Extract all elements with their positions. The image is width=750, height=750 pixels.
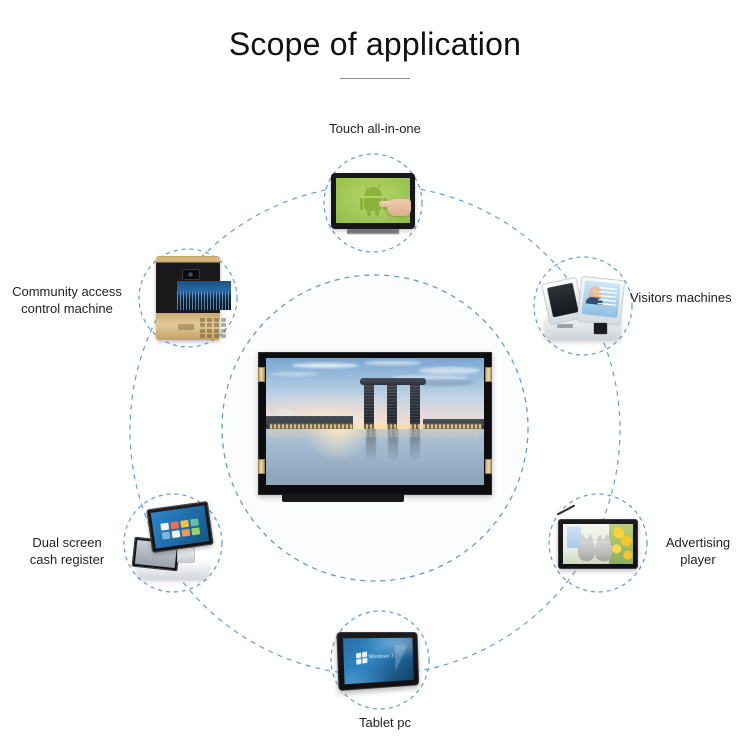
menu-tile[interactable]: [180, 520, 189, 528]
node-label-dual-screen-cash-register: Dual screen cash register: [8, 534, 126, 568]
node-touch-all-in-one[interactable]: [325, 155, 421, 251]
keypad-key[interactable]: [207, 334, 212, 338]
kiosk-left-screen: [547, 283, 579, 318]
keypad[interactable]: [200, 318, 226, 338]
keypad-key[interactable]: [221, 323, 226, 327]
receipt-printer-icon: [177, 547, 195, 563]
node-label-community-access-control: Community access control machine: [0, 283, 134, 317]
keypad-key[interactable]: [214, 329, 219, 333]
keypad-key[interactable]: [221, 329, 226, 333]
windows-wordmark: Windows 7: [369, 653, 394, 660]
water-reflection: [266, 429, 484, 480]
mbs-tower: [410, 383, 420, 429]
cloud-icon: [270, 372, 318, 376]
mbs-tower: [364, 383, 374, 429]
menu-tile[interactable]: [181, 529, 190, 537]
panel-mount-tab: [485, 459, 492, 474]
device-screen: [177, 281, 231, 310]
node-label-visitors-machines: Visitors machines: [630, 289, 750, 306]
pos-main-screen: [151, 505, 209, 548]
cloud-icon: [292, 363, 357, 368]
keypad-key[interactable]: [214, 323, 219, 327]
android-leg: [375, 209, 379, 216]
menu-tile[interactable]: [191, 527, 200, 535]
windows-pane: [355, 653, 360, 659]
keypad-key[interactable]: [200, 329, 205, 333]
center-lcd-panel: [258, 352, 492, 502]
pos-main-display: [146, 501, 214, 553]
marina-bay-sands: [362, 383, 424, 429]
kiosk-right-screen-housing: [577, 276, 626, 326]
device-bezel: Windows 7: [336, 632, 419, 691]
keypad-key[interactable]: [200, 323, 205, 327]
keypad-key[interactable]: [214, 334, 219, 338]
keypad-key[interactable]: [221, 334, 226, 338]
node-community-access-control[interactable]: [140, 250, 236, 346]
dual-screen-cash-register-icon: [125, 495, 221, 591]
lcd-panel-body: [258, 352, 492, 495]
node-dual-screen-cash-register[interactable]: [125, 495, 221, 591]
device-body: [156, 256, 220, 340]
menu-tile[interactable]: [170, 521, 179, 529]
form-lines: [598, 287, 618, 307]
device-bezel: [558, 519, 638, 569]
kiosk-right-screen: [582, 280, 621, 318]
panel-mount-tab: [258, 367, 265, 382]
page-root: Scope of application: [0, 0, 750, 750]
visitors-machine-icon: [535, 258, 631, 354]
node-label-advertising-player: Advertising player: [648, 534, 748, 568]
mbs-skypark: [360, 378, 426, 385]
lcd-screen: [266, 358, 484, 485]
device-shadow: [347, 229, 399, 234]
advertising-player-icon: [550, 495, 646, 591]
node-tablet-pc[interactable]: Windows 7: [332, 612, 428, 708]
reflection-lights: [270, 429, 479, 437]
android-leg: [367, 209, 371, 216]
android-arm: [360, 198, 364, 210]
windows-pane: [356, 659, 361, 665]
touch-all-in-one-icon: [325, 155, 421, 251]
menu-tile[interactable]: [190, 518, 199, 526]
node-visitors-machines[interactable]: [535, 258, 631, 354]
windows-pane: [362, 658, 367, 664]
windows-pane: [362, 652, 367, 658]
pointing-hand-icon: [387, 199, 411, 216]
cloud-icon: [419, 367, 480, 373]
kitten-icon: [578, 539, 595, 561]
id-scanner-icon: [593, 322, 608, 335]
camera-icon: [182, 269, 200, 280]
node-label-tablet-pc: Tablet pc: [325, 714, 445, 731]
device-screen: [563, 524, 633, 564]
keypad-key[interactable]: [207, 323, 212, 327]
keypad-key[interactable]: [200, 318, 205, 322]
panel-mount-tab: [258, 459, 265, 474]
city-skyline-wallpaper: [177, 281, 231, 310]
tile-menu[interactable]: [160, 518, 200, 539]
device-screen: Windows 7: [343, 638, 414, 685]
kitten-icon: [595, 539, 612, 561]
menu-tile[interactable]: [172, 530, 181, 538]
menu-tile[interactable]: [162, 532, 171, 540]
wallpaper-flag: [395, 645, 409, 671]
community-access-control-icon: [140, 250, 236, 346]
keypad-key[interactable]: [207, 329, 212, 333]
card-dispenser-slot: [557, 324, 573, 328]
mbs-tower: [387, 383, 397, 429]
node-label-touch-all-in-one: Touch all-in-one: [295, 120, 455, 137]
tablet-pc-icon: Windows 7: [332, 612, 428, 708]
menu-tile[interactable]: [160, 523, 169, 531]
panel-mount-tab: [485, 367, 492, 382]
windows-logo-icon: [355, 652, 366, 665]
keypad-key[interactable]: [214, 318, 219, 322]
flowers-graphic: [609, 524, 633, 564]
node-advertising-player[interactable]: [550, 495, 646, 591]
keypad-key[interactable]: [207, 318, 212, 322]
device-logo: [178, 324, 194, 330]
keypad-key[interactable]: [200, 334, 205, 338]
keypad-key[interactable]: [221, 318, 226, 322]
panel-connector-strip: [282, 494, 404, 502]
cloud-icon: [364, 361, 421, 365]
antenna-icon: [557, 504, 576, 515]
